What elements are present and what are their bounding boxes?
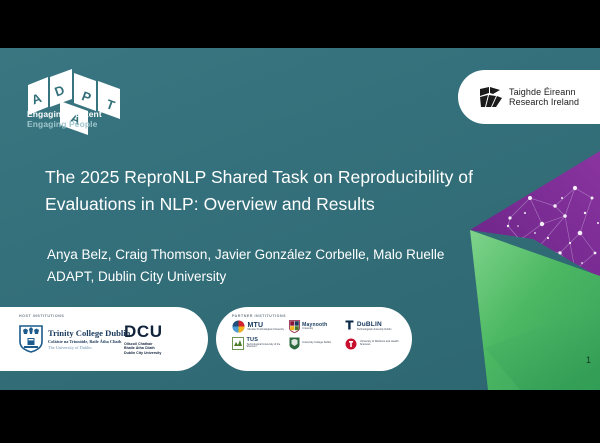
maynooth-shield-icon: [289, 320, 300, 333]
author-affiliation: ADAPT, Dublin City University: [47, 266, 517, 288]
partner-logo-tus: TUS Technological University of the Shan…: [232, 337, 289, 350]
partner-logo-tudublin: DuBLIN Technological University Dublin: [345, 320, 402, 333]
trinity-subtitle: The University of Dublin: [48, 345, 130, 350]
tus-square-icon: [232, 337, 244, 350]
research-ireland-flag-icon: [480, 87, 502, 107]
dcu-acronym: DCU: [124, 323, 163, 340]
partner-institutions-panel: PARTNER INSTITUTIONS MTU Munster Technol…: [216, 307, 412, 371]
page-number: 1: [586, 355, 591, 365]
research-ireland-line1: Taighde Éireann: [509, 87, 579, 97]
trinity-college-dublin-logo: Trinity College Dublin Coláiste na Tríon…: [19, 325, 130, 353]
research-ireland-line2: Research Ireland: [509, 97, 579, 107]
partner-institutions-label: PARTNER INSTITUTIONS: [232, 314, 286, 318]
dcu-line3: Dublin City University: [124, 351, 163, 355]
adapt-tagline: Engaging Content Engaging People: [27, 110, 157, 129]
dcu-logo: DCU Ollscoil Chathair Bhaile Átha Cliath…: [124, 323, 163, 355]
slide-title: The 2025 ReproNLP Shared Task on Reprodu…: [45, 164, 545, 217]
mtu-circle-icon: [232, 320, 245, 333]
tudublin-subtitle: Technological University Dublin: [357, 329, 392, 332]
partner-logo-mtu: MTU Munster Technological University: [232, 320, 289, 333]
presentation-slide: A D P T A Engaging Content Engaging Peop…: [0, 48, 600, 390]
research-ireland-badge: Taighde Éireann Research Ireland: [458, 70, 600, 124]
ucd-subtitle: University College Dublin: [302, 342, 331, 345]
host-institutions-panel: HOST INSTITUTIONS Trinity College Dublin…: [0, 307, 208, 371]
partner-logo-ucd: University College Dublin: [289, 337, 346, 350]
tu-dublin-t-icon: [345, 320, 354, 333]
mtu-subtitle: Munster Technological University: [248, 329, 285, 332]
ucd-shield-icon: [289, 337, 300, 350]
trinity-name: Trinity College Dublin: [48, 328, 130, 338]
trinity-crest-icon: [19, 325, 43, 353]
video-player-frame: A D P T A Engaging Content Engaging Peop…: [0, 0, 600, 443]
rcsi-subtitle: University of Medicine and Health Scienc…: [360, 341, 402, 346]
slide-authors: Anya Belz, Craig Thomson, Javier Gonzále…: [47, 244, 517, 288]
letterbox-top: [0, 0, 600, 48]
partner-logo-rcsi: University of Medicine and Health Scienc…: [345, 338, 402, 350]
trinity-irish-name: Coláiste na Tríonóide, Baile Átha Cliath: [48, 339, 130, 344]
tus-subtitle: Technological University of the Shannon: [247, 344, 289, 349]
maynooth-subtitle: University: [302, 328, 327, 331]
adapt-tagline-line2: Engaging People: [27, 120, 157, 130]
author-names: Anya Belz, Craig Thomson, Javier Gonzále…: [47, 247, 444, 262]
rcsi-circle-icon: [345, 338, 357, 350]
letterbox-bottom: [0, 390, 600, 443]
host-institutions-label: HOST INSTITUTIONS: [19, 314, 64, 318]
partner-logo-maynooth: Maynooth University: [289, 320, 346, 333]
partner-logo-grid: MTU Munster Technological University May…: [232, 320, 402, 350]
